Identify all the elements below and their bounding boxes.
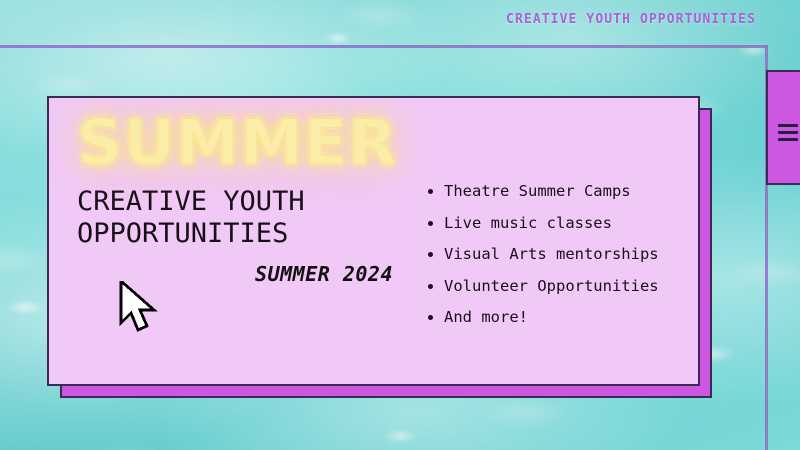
divider-horizontal [0,45,767,48]
opportunities-list: Theatre Summer Camps Live music classes … [427,182,697,326]
list-item: Theatre Summer Camps [427,182,697,200]
header-title: CREATIVE YOUTH OPPORTUNITIES [506,12,756,27]
poster-canvas: CREATIVE YOUTH OPPORTUNITIES SUMMER CREA… [0,0,800,450]
card-left-column: SUMMER CREATIVE YOUTH OPPORTUNITIES SUMM… [77,112,427,286]
list-item: Volunteer Opportunities [427,277,697,295]
hamburger-bar-1 [778,124,798,127]
side-panel[interactable] [766,70,800,185]
subtitle-line-1: CREATIVE YOUTH [77,186,427,218]
bullet-dot-icon [428,284,433,289]
bullet-dot-icon [428,189,433,194]
card-right-column: Theatre Summer Camps Live music classes … [427,182,697,326]
main-card: SUMMER CREATIVE YOUTH OPPORTUNITIES SUMM… [47,96,700,386]
card-subtitle: CREATIVE YOUTH OPPORTUNITIES [77,186,427,250]
bullet-dot-icon [428,315,433,320]
subtitle-line-2: OPPORTUNITIES [77,218,427,250]
bullet-dot-icon [428,252,433,257]
list-item-label: Theatre Summer Camps [444,182,631,200]
list-item-label: And more! [444,308,528,326]
list-item-label: Volunteer Opportunities [444,277,659,295]
list-item: And more! [427,308,697,326]
list-item: Live music classes [427,214,697,232]
hamburger-menu-icon[interactable] [778,124,798,141]
list-item-label: Visual Arts mentorships [444,245,659,263]
list-item-label: Live music classes [444,214,612,232]
hamburger-bar-3 [778,138,798,141]
list-item: Visual Arts mentorships [427,245,697,263]
mouse-pointer-icon [119,281,165,337]
bullet-dot-icon [428,221,433,226]
headline-summer: SUMMER [77,112,434,174]
hamburger-bar-2 [778,131,798,134]
